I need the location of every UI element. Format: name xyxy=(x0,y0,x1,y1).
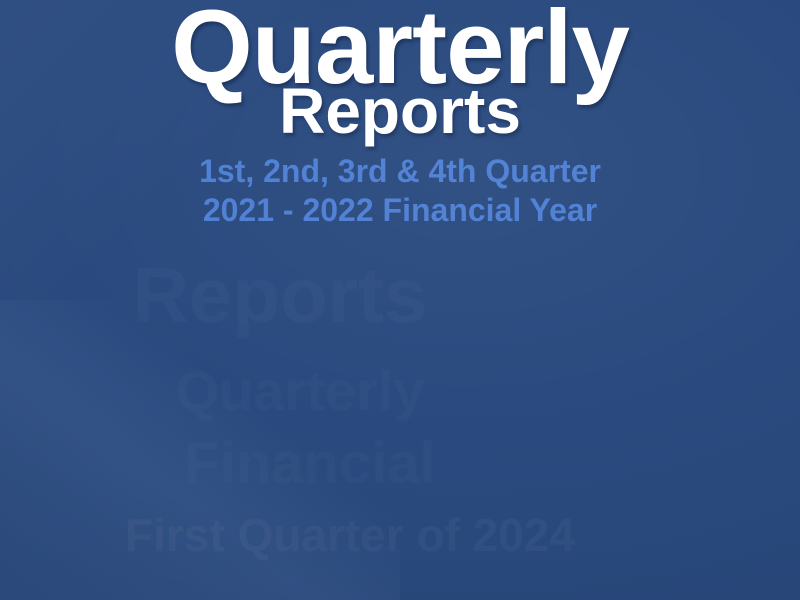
title-slide: Quarterly Reports 1st, 2nd, 3rd & 4th Qu… xyxy=(0,0,800,600)
ghost-text-line-b: Financial xyxy=(0,430,620,497)
subtitle-line-financial-year: 2021 - 2022 Financial Year xyxy=(0,191,800,230)
ghost-text-footer: First Quarter of 2024 xyxy=(0,508,700,562)
subtitle-line-quarters: 1st, 2nd, 3rd & 4th Quarter xyxy=(0,152,800,191)
slide-subtitle: 1st, 2nd, 3rd & 4th Quarter 2021 - 2022 … xyxy=(0,152,800,230)
faded-background-text-layer: Reports Quarterly Financial First Quarte… xyxy=(0,240,800,600)
slide-title-secondary: Reports xyxy=(0,79,800,143)
ghost-text-heading: Reports xyxy=(0,250,560,341)
ghost-text-line-a: Quarterly xyxy=(0,358,600,423)
background-sheen-lower-left xyxy=(0,300,400,600)
